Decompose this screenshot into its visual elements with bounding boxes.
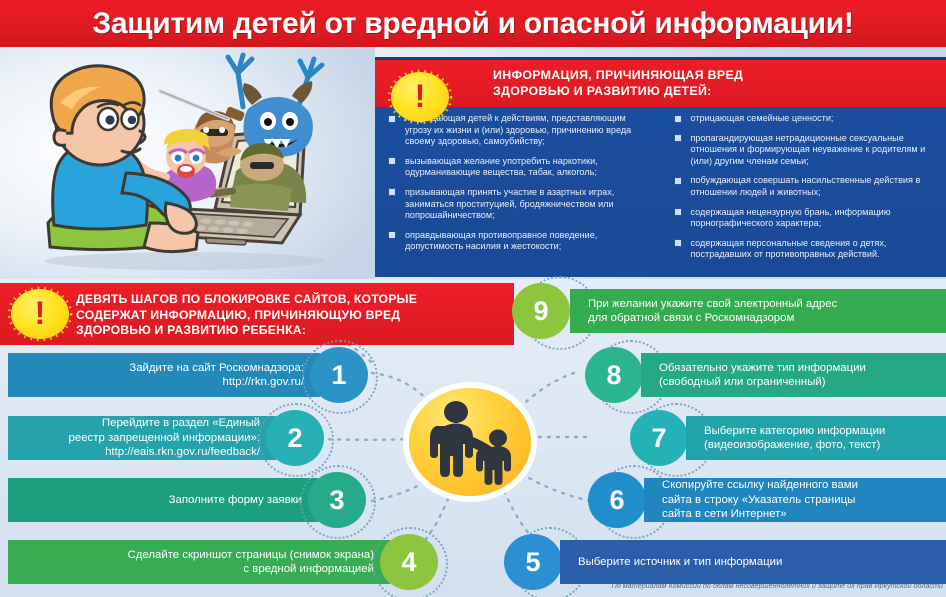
step-row-7: 7 Выберите категорию информации(видеоизо… [630, 416, 946, 460]
step-row-6: 6 Скопируйте ссылку найденного вамисайта… [588, 478, 946, 522]
step-number: 1 [331, 360, 346, 391]
step-bar-7: Выберите категорию информации(видеоизобр… [686, 416, 946, 460]
nine-steps-heading: ДЕВЯТЬ ШАГОВ ПО БЛОКИРОВКЕ САЙТОВ, КОТОР… [76, 292, 506, 339]
harmful-heading-line-1: ИНФОРМАЦИЯ, ПРИЧИНЯЮЩАЯ ВРЕД [493, 67, 933, 83]
harmful-heading-line-2: ЗДОРОВЬЮ И РАЗВИТИЮ ДЕТЕЙ: [493, 83, 933, 99]
infographic-page: Защитим детей от вредной и опасной инфор… [0, 0, 946, 597]
exclamation-mark: ! [386, 68, 454, 126]
harmful-information-left-column: побуждающая детей к действиям, представл… [375, 109, 661, 275]
step-number-badge-6: 6 [588, 472, 646, 528]
step-text: Заполните форму заявки [8, 493, 302, 507]
step-number: 9 [533, 296, 548, 327]
boy-at-laptop-with-harmful-characters-illustration [0, 47, 375, 279]
step-bar-5: Выберите источник и тип информации [560, 540, 946, 584]
harmful-information-right-column: отрицающая семейные ценности; пропаганди… [661, 109, 946, 275]
page-title: Защитим детей от вредной и опасной инфор… [92, 7, 853, 41]
step-bar-2: Перейдите в раздел «Единыйреестр запреще… [8, 416, 276, 460]
step-text: Скопируйте ссылку найденного вамисайта в… [662, 478, 946, 521]
step-number-badge-7: 7 [630, 410, 688, 466]
step-number: 2 [287, 423, 302, 454]
step-row-5: 5 Выберите источник и тип информации [504, 540, 946, 584]
step-bar-6: Скопируйте ссылку найденного вамисайта в… [644, 478, 946, 522]
step-text: Обязательно укажите тип информации(свобо… [659, 361, 946, 390]
list-item: вызывающая желание употребить наркотики,… [389, 156, 651, 179]
nine-steps-line-1: ДЕВЯТЬ ШАГОВ ПО БЛОКИРОВКЕ САЙТОВ, КОТОР… [76, 292, 506, 308]
step-number: 5 [525, 547, 540, 578]
step-row-2: Перейдите в раздел «Единыйреестр запреще… [8, 416, 326, 460]
exclamation-icon: ! [6, 285, 74, 343]
step-number: 8 [606, 360, 621, 391]
step-number: 7 [651, 423, 666, 454]
source-note: По материалам Комиссии по делам несоверш… [575, 581, 943, 591]
step-text: Перейдите в раздел «Единыйреестр запреще… [8, 416, 260, 459]
list-item: содержащая персональные сведения о детях… [675, 238, 937, 261]
nine-steps-line-3: ЗДОРОВЬЮ И РАЗВИТИЮ РЕБЕНКА: [76, 323, 506, 339]
step-bar-4: Сделайте скриншот страницы (снимок экран… [8, 540, 390, 584]
step-row-3: Заполните форму заявки 3 [8, 478, 368, 522]
step-bar-1: Зайдите на сайт Роскомнадзора:http://rkn… [8, 353, 320, 397]
step-number-badge-9: 9 [512, 283, 570, 339]
harmful-information-panel: ИНФОРМАЦИЯ, ПРИЧИНЯЮЩАЯ ВРЕД ЗДОРОВЬЮ И … [375, 57, 946, 277]
list-item: побуждающая совершать насильственные дей… [675, 175, 937, 198]
nine-steps-line-2: СОДЕРЖАТ ИНФОРМАЦИЮ, ПРИЧИНЯЮЩУЮ ВРЕД [76, 308, 506, 324]
step-bar-9: При желании укажите свой электронный адр… [570, 289, 946, 333]
step-number: 3 [329, 485, 344, 516]
list-item: оправдывающая противоправное поведение, … [389, 230, 651, 253]
list-item: пропагандирующая нетрадиционные сексуаль… [675, 133, 937, 168]
step-number-badge-4: 4 [380, 534, 438, 590]
exclamation-icon: ! [386, 68, 454, 126]
step-text: Зайдите на сайт Роскомнадзора:http://rkn… [8, 361, 304, 390]
step-text: Выберите источник и тип информации [578, 555, 946, 569]
step-number-badge-5: 5 [504, 534, 562, 590]
harmful-information-header: ИНФОРМАЦИЯ, ПРИЧИНЯЮЩАЯ ВРЕД ЗДОРОВЬЮ И … [375, 60, 946, 107]
harmful-information-columns: побуждающая детей к действиям, представл… [375, 109, 946, 275]
step-text: При желании укажите свой электронный адр… [588, 297, 946, 326]
page-title-bar: Защитим детей от вредной и опасной инфор… [0, 0, 946, 47]
step-number: 4 [401, 547, 416, 578]
list-item: призывающая принять участие в азартных и… [389, 187, 651, 222]
list-item: содержащая нецензурную брань, информацию… [675, 207, 937, 230]
family-adult-child-icon [409, 388, 531, 496]
step-row-9: 9 При желании укажите свой электронный а… [512, 289, 946, 333]
step-row-8: 8 Обязательно укажите тип информации(сво… [585, 353, 946, 397]
step-text: Сделайте скриншот страницы (снимок экран… [8, 548, 374, 577]
step-number: 6 [609, 485, 624, 516]
step-bar-8: Обязательно укажите тип информации(свобо… [641, 353, 946, 397]
step-row-4: Сделайте скриншот страницы (снимок экран… [8, 540, 440, 584]
step-number-badge-8: 8 [585, 347, 643, 403]
nine-steps-header: ДЕВЯТЬ ШАГОВ ПО БЛОКИРОВКЕ САЙТОВ, КОТОР… [0, 283, 514, 345]
step-number-badge-2: 2 [266, 410, 324, 466]
step-bar-3: Заполните форму заявки [8, 478, 318, 522]
harmful-information-heading: ИНФОРМАЦИЯ, ПРИЧИНЯЮЩАЯ ВРЕД ЗДОРОВЬЮ И … [493, 67, 933, 99]
step-number-badge-1: 1 [310, 347, 368, 403]
step-number-badge-3: 3 [308, 472, 366, 528]
list-item: отрицающая семейные ценности; [675, 113, 937, 125]
exclamation-mark: ! [6, 285, 74, 343]
step-text: Выберите категорию информации(видеоизобр… [704, 424, 946, 453]
step-row-1: Зайдите на сайт Роскомнадзора:http://rkn… [8, 353, 370, 397]
